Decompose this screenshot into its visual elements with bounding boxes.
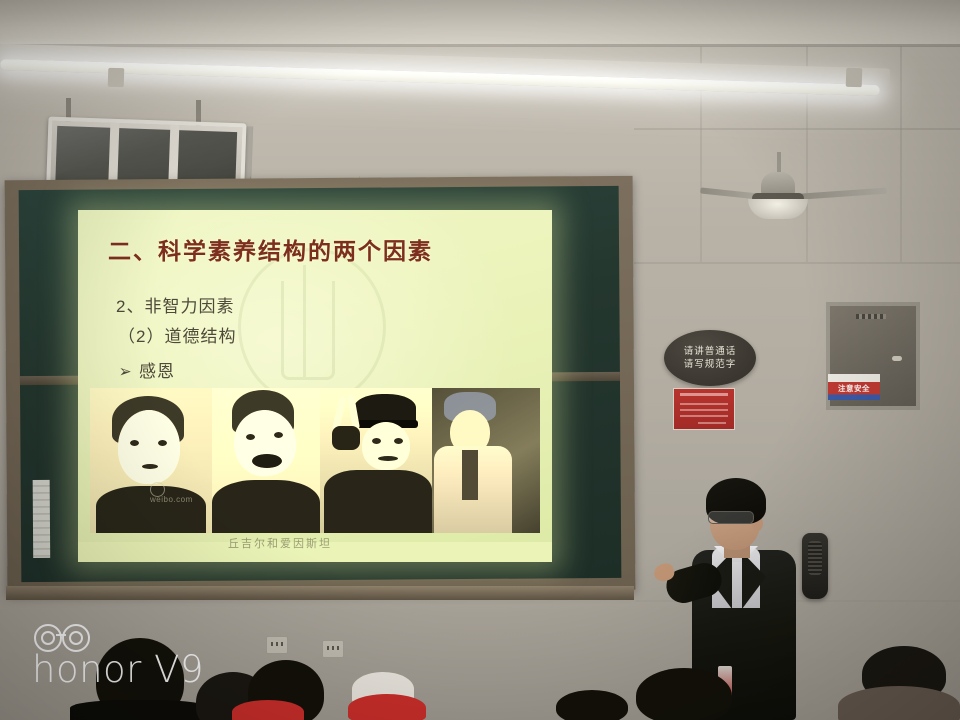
oval-sign-line-1: 请讲普通话: [684, 345, 737, 358]
wall-panel-line: [634, 262, 960, 264]
wall-panel-line: [900, 46, 902, 262]
eye: [158, 440, 167, 446]
torso-coat: [324, 470, 432, 533]
audience-red-collar: [232, 700, 304, 720]
wall-panel-line: [634, 128, 960, 130]
poster-text-line: [698, 422, 726, 424]
photo-young-boy: [90, 388, 212, 533]
audience-head: [636, 668, 732, 720]
audience-fur-hood: [838, 686, 960, 720]
poster-text-line: [680, 409, 728, 411]
photo-laughing-child: [212, 388, 320, 533]
safety-label: 注意安全: [828, 374, 880, 400]
cabinet-vent: [856, 314, 886, 319]
weibo-watermark: weibo.com: [150, 495, 193, 504]
poster-text-line: [680, 415, 728, 417]
slide-line-1: 2、非智力因素: [116, 292, 234, 317]
slide-line-2: （2）道德结构: [118, 322, 236, 347]
mouth: [378, 456, 398, 461]
slide-line-3-label: 感恩: [139, 362, 175, 381]
ceiling: [0, 0, 960, 46]
slide-title: 二、科学素养结构的两个因素: [108, 232, 433, 266]
ceiling-seam: [0, 44, 960, 47]
blackboard-sticker: [33, 480, 51, 558]
classroom-photo: 二、科学素养结构的两个因素 2、非智力因素 （2）道德结构 ➢ 感恩: [0, 0, 960, 720]
tube-connector: [108, 68, 125, 87]
wall-socket[interactable]: [266, 636, 288, 654]
scarf: [462, 450, 478, 500]
cabinet-latch[interactable]: [892, 356, 902, 361]
audience-red-cap: [348, 694, 426, 720]
photo-elderly-person: [432, 388, 540, 533]
tube-connector: [846, 68, 863, 87]
audience-shoulders: [70, 700, 210, 720]
safety-label-text: 注意安全: [838, 383, 870, 394]
bullet-arrow-icon: ➢: [119, 362, 133, 382]
eye: [394, 438, 403, 444]
torso: [212, 480, 320, 533]
slide-watermark-logo: [238, 248, 386, 406]
oval-sign-line-2: 请写规范字: [684, 358, 737, 371]
slide-caption: 丘吉尔和爱因斯坦: [228, 535, 332, 551]
eye: [274, 432, 283, 438]
face: [118, 410, 180, 484]
red-notice-poster: [673, 388, 735, 430]
slide-line-3: ➢ 感恩: [118, 357, 175, 382]
poster-text-line: [680, 403, 728, 405]
chalk-tray: [6, 586, 634, 600]
projection-screen: 二、科学素养结构的两个因素 2、非智力因素 （2）道德结构 ➢ 感恩: [78, 210, 552, 562]
fist: [332, 426, 360, 450]
eye: [246, 434, 255, 440]
wall-socket[interactable]: [322, 640, 344, 658]
poster-heading-line: [680, 393, 728, 396]
eye: [130, 440, 139, 446]
photo-churchill-v-sign: [320, 388, 432, 533]
electrical-cabinet[interactable]: 注意安全: [826, 302, 920, 410]
slide-photo-strip: [90, 388, 540, 533]
mouth-open: [252, 454, 282, 468]
glasses-icon: [708, 511, 754, 524]
face: [362, 422, 410, 470]
audience-head: [556, 690, 628, 720]
mouth: [142, 464, 158, 469]
mandarin-notice-sign: 请讲普通话 请写规范字: [664, 330, 756, 386]
eye: [372, 438, 381, 444]
